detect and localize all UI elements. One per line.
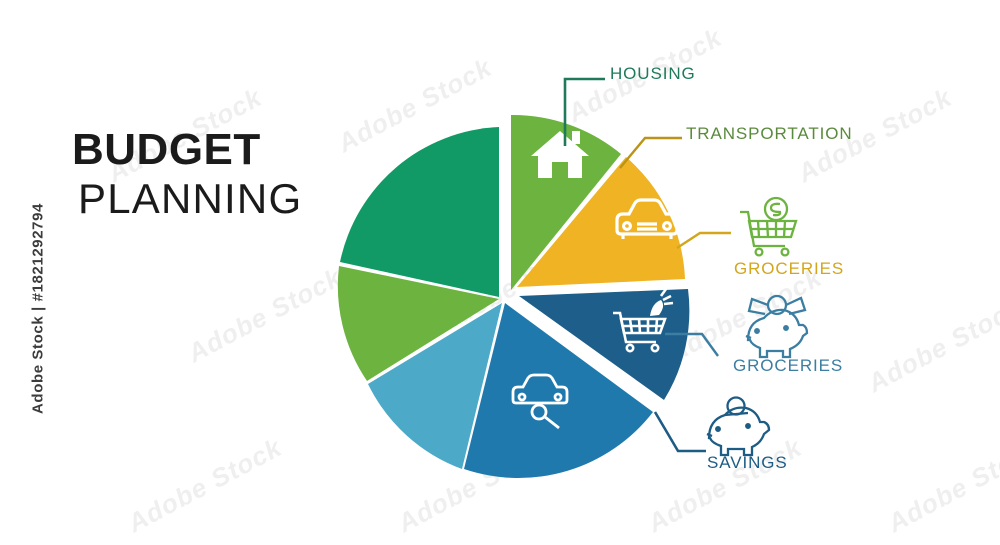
budget-pie-chart — [0, 0, 1000, 545]
leader-line-savings — [655, 412, 706, 451]
callout-label-transportation[interactable]: TRANSPORTATION — [686, 124, 853, 144]
callout-label-groceries-top[interactable]: GROCERIES — [734, 259, 844, 279]
shopping-cart-money-icon — [740, 198, 796, 255]
callout-label-savings[interactable]: SAVINGS — [707, 453, 788, 473]
callout-label-housing[interactable]: HOUSING — [610, 64, 696, 84]
leader-line-groceries-top — [677, 233, 731, 248]
piggy-bank-bills-icon — [746, 296, 807, 357]
infographic-canvas: Adobe Stock Adobe Stock Adobe Stock Adob… — [0, 0, 1000, 545]
callout-label-groceries-bottom[interactable]: GROCERIES — [733, 356, 843, 376]
piggy-bank-coin-icon — [707, 398, 769, 456]
